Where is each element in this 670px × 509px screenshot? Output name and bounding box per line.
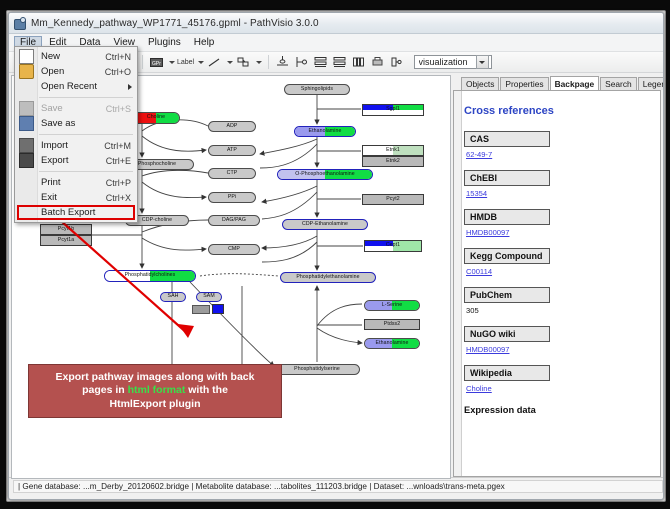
file-menu-label: Batch Export bbox=[41, 207, 95, 218]
label-dropdown-icon[interactable] bbox=[198, 61, 204, 64]
pathway-node-ethanolamine-2[interactable]: Ethanolamine bbox=[364, 338, 420, 349]
tab-legend[interactable]: Legend bbox=[638, 77, 664, 90]
pathway-node-ctp[interactable]: CTP bbox=[208, 168, 256, 179]
xref-link[interactable]: 15354 bbox=[466, 189, 487, 198]
status-bar-text: | Gene database: ...m_Derby_20120602.bri… bbox=[13, 480, 663, 493]
toolbar-separator bbox=[142, 55, 143, 69]
annotation-line-2-pre: pages in bbox=[82, 384, 128, 396]
xref-row-hmdb: HMDB HMDB00097 bbox=[464, 207, 650, 237]
svg-text:GPr: GPr bbox=[152, 61, 161, 67]
node-label: SAH bbox=[168, 294, 179, 299]
node-label: CTP bbox=[227, 171, 238, 176]
distribute-horizontal-button[interactable] bbox=[332, 54, 348, 70]
file-menu-label: Export bbox=[41, 155, 68, 166]
node-label: Sphingolipids bbox=[301, 87, 333, 92]
node-label: Etnk2 bbox=[386, 159, 400, 164]
visualization-value: visualization bbox=[419, 57, 476, 67]
xref-row-chebi: ChEBI 15354 bbox=[464, 168, 650, 198]
pathway-node-cdp-ethanolamine[interactable]: CDP-Ethanolamine bbox=[282, 219, 368, 230]
title-bar: Mm_Kennedy_pathway_WP1771_45176.gpml - P… bbox=[9, 13, 663, 34]
pathway-node-cmp[interactable]: CMP bbox=[208, 244, 260, 255]
node-label: Sgpl1 bbox=[386, 107, 400, 112]
new-document-icon bbox=[19, 49, 34, 64]
file-menu-item-exit[interactable]: Exit Ctrl+X bbox=[15, 190, 137, 205]
annotation-callout: Export pathway images along with back pa… bbox=[28, 364, 282, 418]
pathway-node-dag-pag[interactable]: DAG/PAG bbox=[208, 215, 260, 226]
node-label: Pcyt1a bbox=[58, 238, 74, 243]
pathway-node-sphingolipids[interactable]: Sphingolipids bbox=[284, 84, 350, 95]
xref-row-nugo-wiki: NuGO wiki HMDB00097 bbox=[464, 324, 650, 354]
annotation-highlight: html format bbox=[128, 384, 186, 396]
node-label: SAM bbox=[203, 294, 215, 299]
node-label: Pcyt1b bbox=[58, 227, 74, 232]
file-menu-item-save-as[interactable]: Save as bbox=[15, 116, 137, 131]
pathway-node-pcyt1a[interactable]: Pcyt1a bbox=[40, 235, 92, 246]
expression-data-heading: Expression data bbox=[464, 405, 650, 415]
xref-row-pubchem: PubChem 305 bbox=[464, 285, 650, 315]
file-menu-shortcut: Ctrl+E bbox=[106, 156, 131, 166]
xref-database-label: Wikipedia bbox=[464, 365, 550, 381]
file-menu-item-import[interactable]: Import Ctrl+M bbox=[15, 138, 137, 153]
pathway-node-ethanolamine-1[interactable]: Ethanolamine bbox=[294, 126, 356, 137]
node-label: DAG/PAG bbox=[222, 218, 246, 223]
tab-properties[interactable]: Properties bbox=[500, 77, 548, 90]
file-menu-separator-1 bbox=[39, 97, 133, 98]
file-menu-label: Exit bbox=[41, 192, 57, 203]
node-label: Etnk1 bbox=[386, 148, 400, 153]
file-menu-shortcut: Ctrl+X bbox=[106, 193, 131, 203]
pathway-node-sam[interactable]: SAM bbox=[196, 292, 222, 302]
file-menu-label: Open Recent bbox=[41, 81, 97, 92]
save-disk-icon bbox=[19, 101, 34, 116]
node-label: Ethanolamine bbox=[376, 341, 409, 346]
pathway-node-sgpl1[interactable]: Sgpl1 bbox=[362, 104, 424, 116]
pathway-node-phosphatidylcholines[interactable]: Phosphatidylcholines bbox=[104, 270, 196, 282]
node-label: CDP-Ethanolamine bbox=[302, 222, 348, 227]
pathway-node-atp[interactable]: ATP bbox=[208, 145, 256, 156]
pathway-node-phosphatidylethanolamine[interactable]: Phosphatidylethanolamine bbox=[280, 272, 376, 283]
xref-value[interactable]: HMDB00097 bbox=[464, 345, 650, 354]
file-menu-label: Save as bbox=[41, 118, 75, 129]
file-menu-item-print[interactable]: Print Ctrl+P bbox=[15, 175, 137, 190]
file-menu-label: Save bbox=[41, 103, 63, 114]
line-dropdown-icon[interactable] bbox=[227, 61, 233, 64]
visualization-combo[interactable]: visualization bbox=[414, 55, 492, 69]
pathway-node-sah[interactable]: SAH bbox=[160, 292, 186, 302]
pathway-node-pcyt2[interactable]: Pcyt2 bbox=[362, 194, 424, 205]
file-menu-label: Open bbox=[41, 66, 64, 77]
node-label: Pcyt2 bbox=[386, 197, 399, 202]
node-label: Ptdss2 bbox=[384, 322, 400, 327]
xref-database-label: HMDB bbox=[464, 209, 550, 225]
submenu-arrow-icon bbox=[128, 84, 132, 90]
file-menu-item-export[interactable]: Export Ctrl+E bbox=[15, 153, 137, 168]
xref-link[interactable]: Choline bbox=[466, 384, 492, 393]
tab-backpage[interactable]: Backpage bbox=[550, 76, 600, 91]
file-menu-shortcut: Ctrl+N bbox=[105, 52, 131, 62]
tab-search[interactable]: Search bbox=[600, 77, 637, 90]
tab-objects[interactable]: Objects bbox=[461, 77, 499, 90]
line-tool-icon[interactable] bbox=[207, 54, 223, 70]
xref-row-cas: CAS 62-49-7 bbox=[464, 129, 650, 159]
visualization-chevron-down-icon[interactable] bbox=[476, 55, 489, 69]
pathway-node-cept1[interactable]: Cept1 bbox=[364, 240, 422, 252]
import-icon bbox=[19, 138, 34, 153]
node-label: CDP-choline bbox=[142, 218, 172, 223]
pathway-node-unlabeled-box[interactable] bbox=[192, 305, 210, 314]
annotation-line-2-post: with the bbox=[185, 384, 228, 396]
annotation-line-1: Export pathway images along with back bbox=[56, 371, 255, 385]
xref-database-label: ChEBI bbox=[464, 170, 550, 186]
node-label: Ethanolamine bbox=[309, 129, 342, 134]
stack-button[interactable] bbox=[389, 54, 405, 70]
file-menu-shortcut: Ctrl+S bbox=[106, 104, 131, 114]
pathway-node-l-serine[interactable]: L-Serine bbox=[364, 300, 420, 311]
annotation-line-2: pages in html format with the bbox=[82, 384, 228, 398]
node-label: ADP bbox=[227, 124, 238, 129]
xref-value[interactable]: C00114 bbox=[464, 267, 650, 276]
status-bar: | Gene database: ...m_Derby_20120602.bri… bbox=[9, 477, 663, 495]
save-as-icon bbox=[19, 116, 34, 131]
pathvisio-app-icon bbox=[13, 17, 26, 30]
file-menu-separator-2 bbox=[39, 134, 133, 135]
backpage-content: Cross references CAS 62-49-7 ChEBI 15354… bbox=[453, 90, 661, 477]
interaction-dropdown-icon[interactable] bbox=[256, 61, 262, 64]
cross-references-heading: Cross references bbox=[464, 105, 650, 117]
xref-link[interactable]: HMDB00097 bbox=[466, 345, 509, 354]
node-label: Phosphatidylcholines bbox=[125, 273, 176, 278]
annotation-line-3: HtmlExport plugin bbox=[110, 398, 201, 412]
file-menu-dropdown[interactable]: New Ctrl+N Open Ctrl+O Open Recent Save … bbox=[14, 46, 138, 223]
xref-value[interactable]: 62-49-7 bbox=[464, 150, 650, 159]
pathway-node-etnk1[interactable]: Etnk1 bbox=[362, 145, 424, 156]
file-menu-item-batch-export[interactable]: Batch Export bbox=[15, 205, 137, 220]
xref-row-wikipedia: Wikipedia Choline bbox=[464, 363, 650, 393]
pathway-node-phosphatidylserine[interactable]: Phosphatidylserine bbox=[274, 364, 360, 375]
xref-database-label: CAS bbox=[464, 131, 550, 147]
menu-help[interactable]: Help bbox=[188, 36, 221, 49]
xref-value[interactable]: Choline bbox=[464, 384, 650, 393]
file-menu-separator-3 bbox=[39, 171, 133, 172]
pathway-node-o-phosphoethanolamine[interactable]: O-Phosphoethanolamine bbox=[277, 169, 373, 180]
pathway-node-etnk2[interactable]: Etnk2 bbox=[362, 156, 424, 167]
xref-link[interactable]: C00114 bbox=[466, 267, 492, 276]
file-menu-shortcut: Ctrl+P bbox=[106, 178, 131, 188]
node-label: CMP bbox=[228, 247, 240, 252]
xref-value[interactable]: 15354 bbox=[464, 189, 650, 198]
node-label: Cept1 bbox=[386, 243, 400, 248]
node-label: Phosphocholine bbox=[138, 162, 176, 167]
xref-value: 305 bbox=[464, 306, 650, 315]
pathway-node-blue-marker[interactable] bbox=[212, 304, 224, 314]
pathway-node-adp[interactable]: ADP bbox=[208, 121, 256, 132]
gene-product-tool-icon[interactable]: GPr bbox=[149, 54, 165, 70]
print-button[interactable] bbox=[370, 54, 386, 70]
xref-database-label: NuGO wiki bbox=[464, 326, 550, 342]
menu-plugins[interactable]: Plugins bbox=[142, 36, 187, 49]
node-label: Choline bbox=[147, 115, 165, 120]
file-menu-item-open-recent[interactable]: Open Recent bbox=[15, 79, 137, 94]
node-label: PPi bbox=[228, 195, 236, 200]
xref-database-label: Kegg Compound bbox=[464, 248, 550, 264]
interaction-tool-icon[interactable] bbox=[236, 54, 252, 70]
xref-database-label: PubChem bbox=[464, 287, 550, 303]
pathway-node-pcyt1b[interactable]: Pcyt1b bbox=[40, 224, 92, 235]
file-menu-label: Import bbox=[41, 140, 68, 151]
side-panel: Objects Properties Backpage Search Legen… bbox=[453, 75, 661, 477]
pathvisio-main-window: Mm_Kennedy_pathway_WP1771_45176.gpml - P… bbox=[8, 12, 664, 500]
node-label: O-Phosphoethanolamine bbox=[295, 172, 355, 177]
node-label: L-Serine bbox=[382, 303, 402, 308]
xref-value[interactable]: HMDB00097 bbox=[464, 228, 650, 237]
label-tool-icon[interactable]: Label bbox=[178, 54, 194, 70]
window-title: Mm_Kennedy_pathway_WP1771_45176.gpml - P… bbox=[31, 18, 319, 29]
toolbar-separator-2 bbox=[268, 55, 269, 69]
node-label: Phosphatidylethanolamine bbox=[296, 275, 359, 280]
file-menu-item-new[interactable]: New Ctrl+N bbox=[15, 49, 137, 64]
file-menu-label: Print bbox=[41, 177, 61, 188]
group-button[interactable] bbox=[351, 54, 367, 70]
file-menu-item-open[interactable]: Open Ctrl+O bbox=[15, 64, 137, 79]
file-menu-shortcut: Ctrl+M bbox=[104, 141, 131, 151]
export-icon bbox=[19, 153, 34, 168]
node-label: Phosphatidylserine bbox=[294, 367, 340, 372]
file-menu-shortcut: Ctrl+O bbox=[105, 67, 131, 77]
panel-scroll-track[interactable] bbox=[454, 91, 462, 476]
file-menu-item-save: Save Ctrl+S bbox=[15, 101, 137, 116]
xref-row-kegg-compound: Kegg Compound C00114 bbox=[464, 246, 650, 276]
align-center-button[interactable] bbox=[275, 54, 291, 70]
gene-product-dropdown-icon[interactable] bbox=[169, 61, 175, 64]
pathway-node-choline[interactable]: Choline bbox=[132, 112, 180, 124]
xref-link[interactable]: HMDB00097 bbox=[466, 228, 509, 237]
pathway-node-ppi[interactable]: PPi bbox=[208, 192, 256, 203]
side-panel-tabs: Objects Properties Backpage Search Legen… bbox=[453, 75, 661, 90]
node-label: ATP bbox=[227, 148, 237, 153]
xref-link[interactable]: 62-49-7 bbox=[466, 150, 492, 159]
open-folder-icon bbox=[19, 64, 34, 79]
desktop-background: Mm_Kennedy_pathway_WP1771_45176.gpml - P… bbox=[0, 0, 670, 509]
file-menu-label: New bbox=[41, 51, 60, 62]
distribute-vertical-button[interactable] bbox=[313, 54, 329, 70]
pathway-node-ptdss2[interactable]: Ptdss2 bbox=[364, 319, 420, 330]
label-tool-text: Label bbox=[177, 59, 194, 66]
align-left-button[interactable] bbox=[294, 54, 310, 70]
